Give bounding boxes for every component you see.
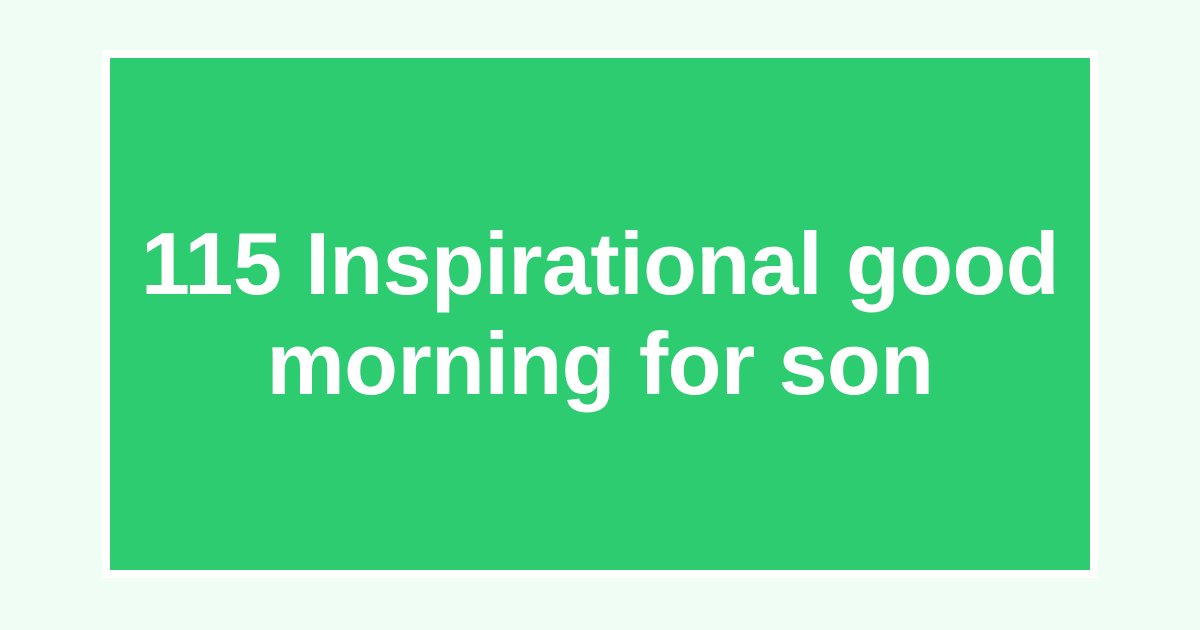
card-panel: 115 Inspirational good morning for son [110,58,1090,570]
card-canvas: 115 Inspirational good morning for son [0,0,1200,630]
headline-text: 115 Inspirational good morning for son [110,214,1090,414]
card-frame: 115 Inspirational good morning for son [102,50,1098,578]
